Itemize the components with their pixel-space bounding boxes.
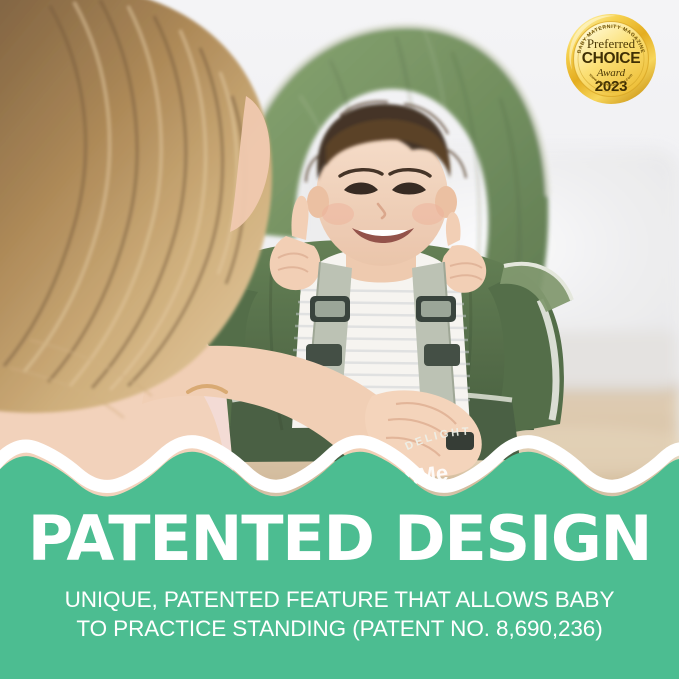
award-badge: BABY MATERNITY MAGAZINE Preferred CHOICE… xyxy=(564,12,658,106)
product-feature-card: DELIGHT thMe PATENTED DESIGN UNIQUE, PAT… xyxy=(0,0,679,679)
badge-line1: Preferred xyxy=(587,36,636,51)
award-seal-icon: BABY MATERNITY MAGAZINE Preferred CHOICE… xyxy=(564,12,658,106)
green-caption-panel: PATENTED DESIGN UNIQUE, PATENTED FEATURE… xyxy=(0,430,679,679)
wavy-panel-shape xyxy=(0,430,679,679)
badge-line2: CHOICE xyxy=(582,50,640,67)
